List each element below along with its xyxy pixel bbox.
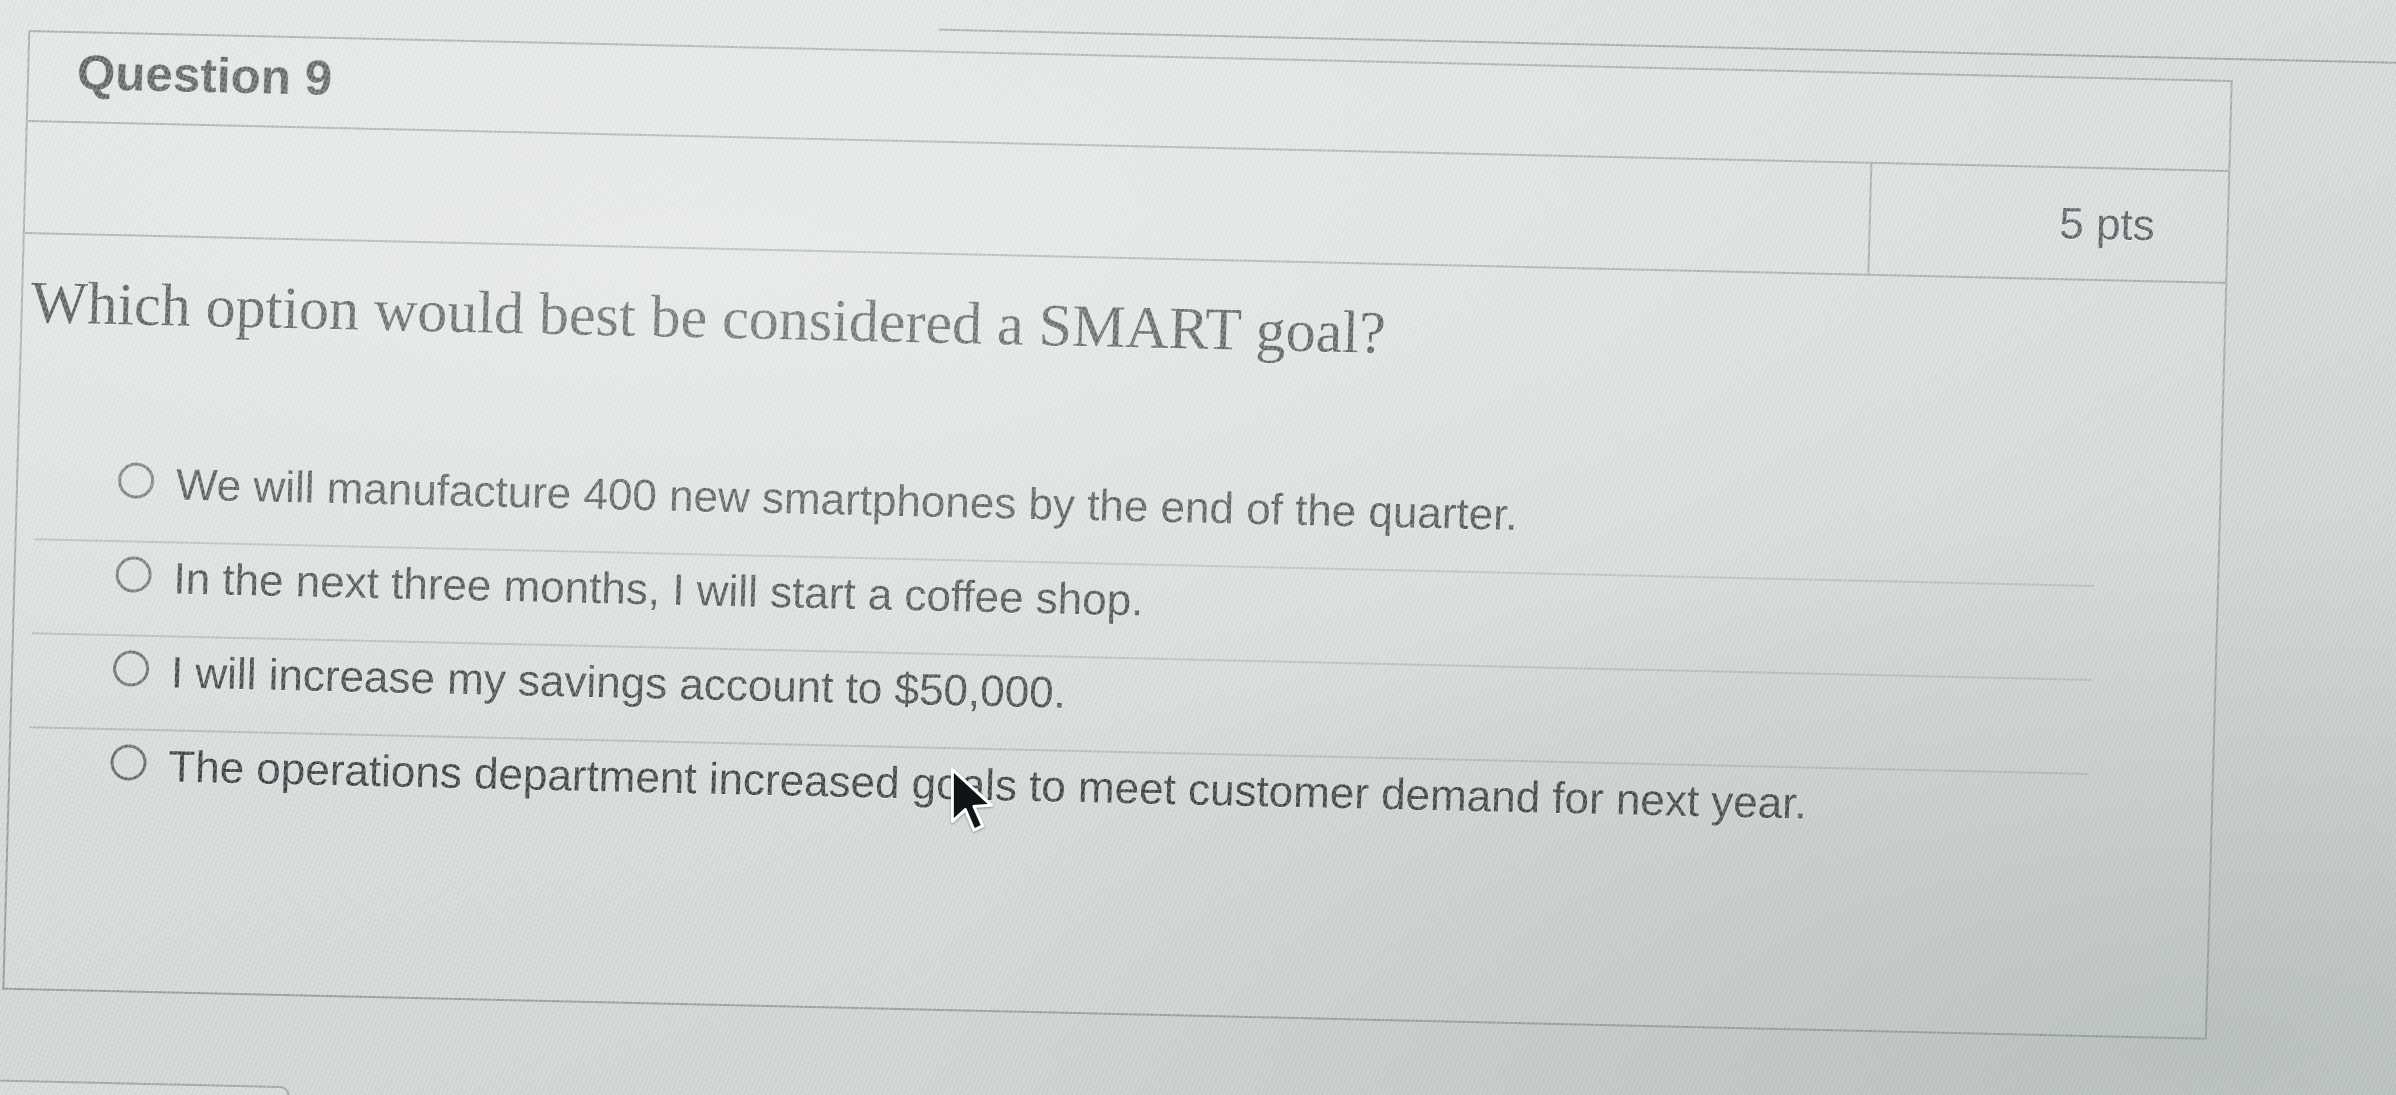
answer-option-label-2: In the next three months, I will start a… — [173, 551, 1144, 627]
radio-button-icon-3[interactable] — [113, 650, 150, 687]
quiz-page: Question 9 5 pts Which option would best… — [0, 0, 2396, 1095]
radio-button-icon-1[interactable] — [118, 462, 155, 499]
screen-photo: Question 9 5 pts Which option would best… — [0, 0, 2396, 1095]
radio-button-icon-4[interactable] — [110, 744, 147, 781]
question-card: Question 9 5 pts Which option would best… — [2, 30, 2232, 1040]
answer-option-label-1: We will manufacture 400 new smartphones … — [175, 457, 1518, 541]
radio-button-icon-2[interactable] — [115, 556, 152, 593]
answer-options-list: We will manufacture 400 new smartphones … — [27, 446, 2097, 867]
answer-option-label-3: I will increase my savings account to $5… — [170, 645, 1066, 719]
points-box: 5 pts — [1867, 164, 2200, 283]
bottom-action-button[interactable] — [0, 1078, 290, 1095]
question-number-label: Question 9 — [76, 45, 333, 107]
question-prompt: Which option would best be considered a … — [30, 268, 1731, 376]
points-value: 5 pts — [2059, 199, 2156, 251]
